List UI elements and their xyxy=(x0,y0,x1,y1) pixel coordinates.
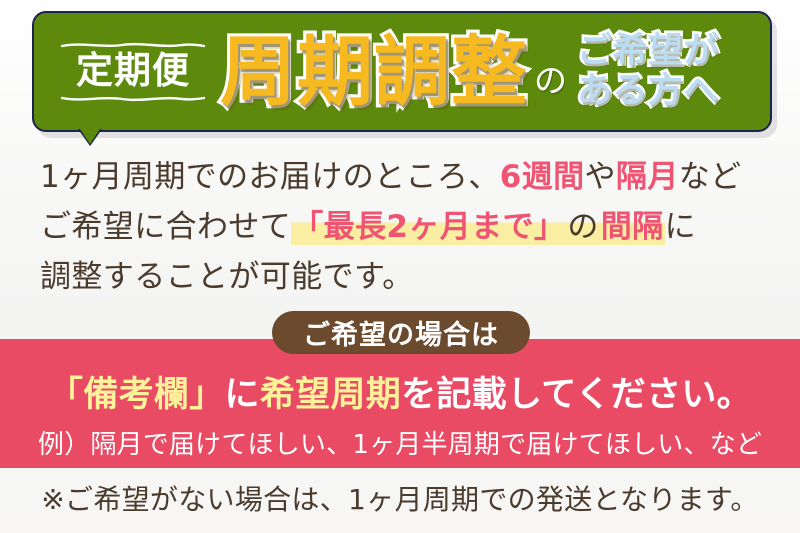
pink-headline: 「備考欄」に希望周期を記載してください。 xyxy=(0,366,800,417)
footnote-default-cycle: ※ご希望がない場合は、1ヶ月周期での発送となります。 xyxy=(0,478,800,518)
pink-headline-desired-cycle: 希望周期 xyxy=(260,375,401,415)
headline-particle: の xyxy=(534,64,567,97)
body-line-2-highlight-no: の xyxy=(566,209,599,245)
body-line-1-part-2: や xyxy=(585,159,616,195)
subscription-tag-label: 定期便 xyxy=(72,49,194,94)
subscription-cycle-banner: 定期便 周期調整 の ご希望が ある方へ 1ヶ月周期でのお届けのところ、6週間や… xyxy=(0,0,800,533)
pink-headline-particle-ni: に xyxy=(225,375,260,415)
body-line-2-highlight-interval: 間隔 xyxy=(600,209,665,245)
pink-example-text: 例）隔月で届けてほしい、1ヶ月半周期で届けてほしい、など xyxy=(0,424,800,461)
body-line-2-highlight-max-two-months: 「最長2ヶ月まで」 xyxy=(291,209,566,245)
wish-callout-line-1: ご希望が xyxy=(577,32,719,71)
body-line-1-part-3: など xyxy=(679,159,742,195)
wish-callout: ご希望が ある方へ xyxy=(577,32,719,110)
request-case-badge-label: ご希望の場合は xyxy=(303,313,499,352)
body-line-1: 1ヶ月周期でのお届けのところ、6週間や隔月など xyxy=(40,152,770,202)
body-line-2: ご希望に合わせて「最長2ヶ月まで」の間隔に xyxy=(40,202,770,252)
green-header-box: 定期便 周期調整 の ご希望が ある方へ xyxy=(32,11,772,132)
headline-cycle-adjustment: 周期調整 xyxy=(220,34,528,110)
body-line-3: 調整することが可能です。 xyxy=(40,252,770,302)
body-paragraph: 1ヶ月周期でのお届けのところ、6週間や隔月など ご希望に合わせて「最長2ヶ月まで… xyxy=(40,152,770,302)
speech-bubble-tail xyxy=(80,129,100,144)
wish-callout-line-2: ある方へ xyxy=(577,72,719,111)
wavy-rule-bottom-icon xyxy=(60,94,206,102)
pink-headline-instruction: を記載してください。 xyxy=(401,375,752,415)
subscription-tag: 定期便 xyxy=(60,41,206,102)
pink-headline-remarks-field: 「備考欄」 xyxy=(48,375,225,415)
body-line-1-emphasis-every-other-month: 隔月 xyxy=(616,159,679,195)
body-line-1-part-1: 1ヶ月周期でのお届けのところ、 xyxy=(40,159,500,195)
body-line-2-part-1: ご希望に合わせて xyxy=(40,209,291,245)
request-case-badge: ご希望の場合は xyxy=(272,311,530,354)
body-line-2-part-2: に xyxy=(665,209,696,245)
body-line-1-emphasis-six-weeks: 6週間 xyxy=(500,159,585,195)
wavy-rule-top-icon xyxy=(60,41,206,49)
